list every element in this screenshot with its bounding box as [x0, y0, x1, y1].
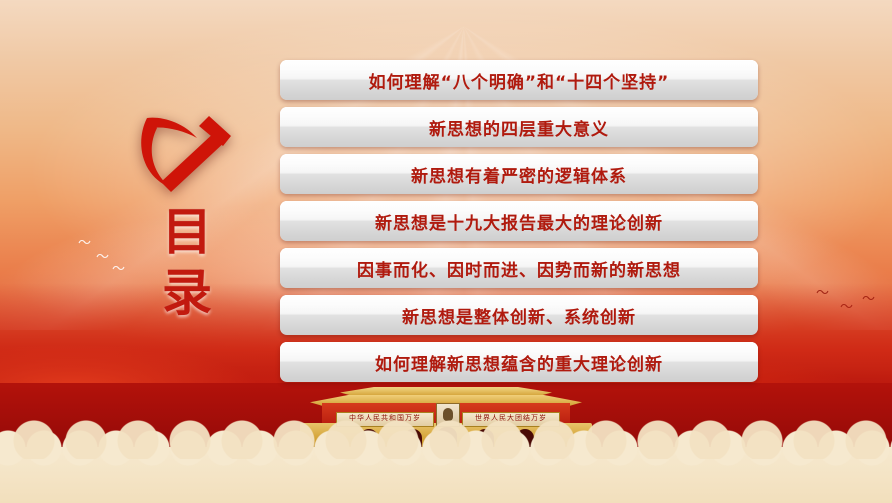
toc-item-4[interactable]: 新思想是十九大报告最大的理论创新 [280, 201, 758, 241]
toc-item-3[interactable]: 新思想有着严密的逻辑体系 [280, 154, 758, 194]
toc-item-2[interactable]: 新思想的四层重大意义 [280, 107, 758, 147]
toc-item-label: 如何理解新思想蕴含的重大理论创新 [375, 350, 663, 375]
toc-item-6[interactable]: 新思想是整体创新、系统创新 [280, 295, 758, 335]
toc-item-7[interactable]: 如何理解新思想蕴含的重大理论创新 [280, 342, 758, 382]
bird-icon: 〜 [96, 250, 109, 263]
toc-item-label: 新思想有着严密的逻辑体系 [411, 162, 627, 187]
bird-icon: 〜 [862, 292, 875, 305]
page-title-char-2: 录 [150, 263, 226, 324]
table-of-contents-list: 如何理解“八个明确”和“十四个坚持” 新思想的四层重大意义 新思想有着严密的逻辑… [280, 60, 758, 389]
hammer-and-sickle-icon [131, 108, 239, 200]
page-title-vertical: 目 录 [150, 202, 226, 324]
bird-icon: 〜 [840, 300, 853, 313]
toc-item-label: 因事而化、因时而进、因势而新的新思想 [357, 256, 681, 281]
party-emblem [131, 108, 239, 200]
bird-icon: 〜 [78, 236, 91, 249]
slide-canvas: 〜 〜 〜 〜 〜 〜 中华人民共和国万岁 世界人民大团结万岁 [0, 0, 892, 503]
bird-icon: 〜 [112, 262, 125, 275]
toc-item-label: 新思想的四层重大意义 [429, 115, 609, 140]
page-title-char-1: 目 [150, 202, 226, 263]
toc-item-label: 新思想是整体创新、系统创新 [402, 303, 636, 328]
toc-item-label: 如何理解“八个明确”和“十四个坚持” [369, 68, 670, 93]
bird-icon: 〜 [816, 286, 829, 299]
toc-item-5[interactable]: 因事而化、因时而进、因势而新的新思想 [280, 248, 758, 288]
toc-item-label: 新思想是十九大报告最大的理论创新 [375, 209, 663, 234]
cloud-scallop-border-decoration [0, 447, 892, 503]
toc-item-1[interactable]: 如何理解“八个明确”和“十四个坚持” [280, 60, 758, 100]
